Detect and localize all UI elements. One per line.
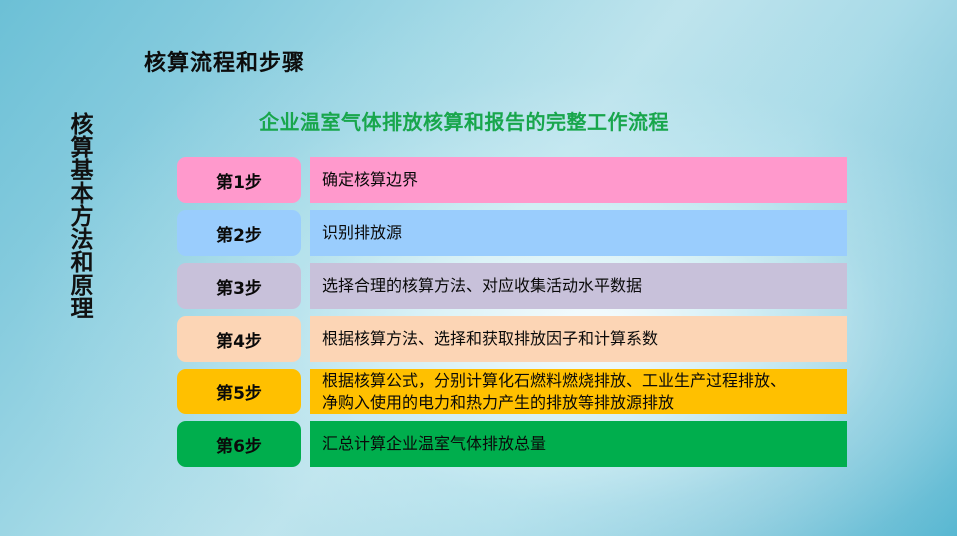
step-description-line: 汇总计算企业温室气体排放总量: [322, 433, 847, 454]
step-badge[interactable]: 第1步: [177, 157, 301, 203]
step-description-bar[interactable]: 确定核算边界: [310, 157, 847, 203]
slide-canvas: 核算基本方法和原理 核算流程和步骤 企业温室气体排放核算和报告的完整工作流程 第…: [0, 0, 957, 536]
step-description-line: 识别排放源: [322, 222, 847, 243]
page-title: 核算流程和步骤: [144, 45, 305, 77]
step-description-bar[interactable]: 识别排放源: [310, 210, 847, 256]
step-description-line: 根据核算方法、选择和获取排放因子和计算系数: [322, 328, 847, 349]
step-description-line: 净购入使用的电力和热力产生的排放等排放源排放: [322, 392, 847, 413]
step-description-bar[interactable]: 根据核算公式，分别计算化石燃料燃烧排放、工业生产过程排放、净购入使用的电力和热力…: [310, 369, 847, 414]
flow-step-row[interactable]: 第2步识别排放源: [177, 210, 847, 256]
step-description-bar[interactable]: 选择合理的核算方法、对应收集活动水平数据: [310, 263, 847, 309]
subtitle: 企业温室气体排放核算和报告的完整工作流程: [259, 106, 669, 135]
step-badge[interactable]: 第5步: [177, 369, 301, 414]
step-description-bar[interactable]: 根据核算方法、选择和获取排放因子和计算系数: [310, 316, 847, 362]
side-section-label: 核算基本方法和原理: [56, 112, 90, 319]
step-badge[interactable]: 第6步: [177, 421, 301, 467]
flow-step-row[interactable]: 第3步选择合理的核算方法、对应收集活动水平数据: [177, 263, 847, 309]
flow-step-row[interactable]: 第4步根据核算方法、选择和获取排放因子和计算系数: [177, 316, 847, 362]
flow-step-row[interactable]: 第6步汇总计算企业温室气体排放总量: [177, 421, 847, 467]
step-description-line: 选择合理的核算方法、对应收集活动水平数据: [322, 275, 847, 296]
flow-step-row[interactable]: 第5步根据核算公式，分别计算化石燃料燃烧排放、工业生产过程排放、净购入使用的电力…: [177, 369, 847, 414]
process-flow-list: 第1步确定核算边界第2步识别排放源第3步选择合理的核算方法、对应收集活动水平数据…: [177, 157, 847, 474]
step-description-line: 确定核算边界: [322, 169, 847, 190]
step-badge[interactable]: 第4步: [177, 316, 301, 362]
step-badge[interactable]: 第2步: [177, 210, 301, 256]
step-badge[interactable]: 第3步: [177, 263, 301, 309]
flow-step-row[interactable]: 第1步确定核算边界: [177, 157, 847, 203]
step-description-bar[interactable]: 汇总计算企业温室气体排放总量: [310, 421, 847, 467]
step-description-line: 根据核算公式，分别计算化石燃料燃烧排放、工业生产过程排放、: [322, 370, 847, 391]
